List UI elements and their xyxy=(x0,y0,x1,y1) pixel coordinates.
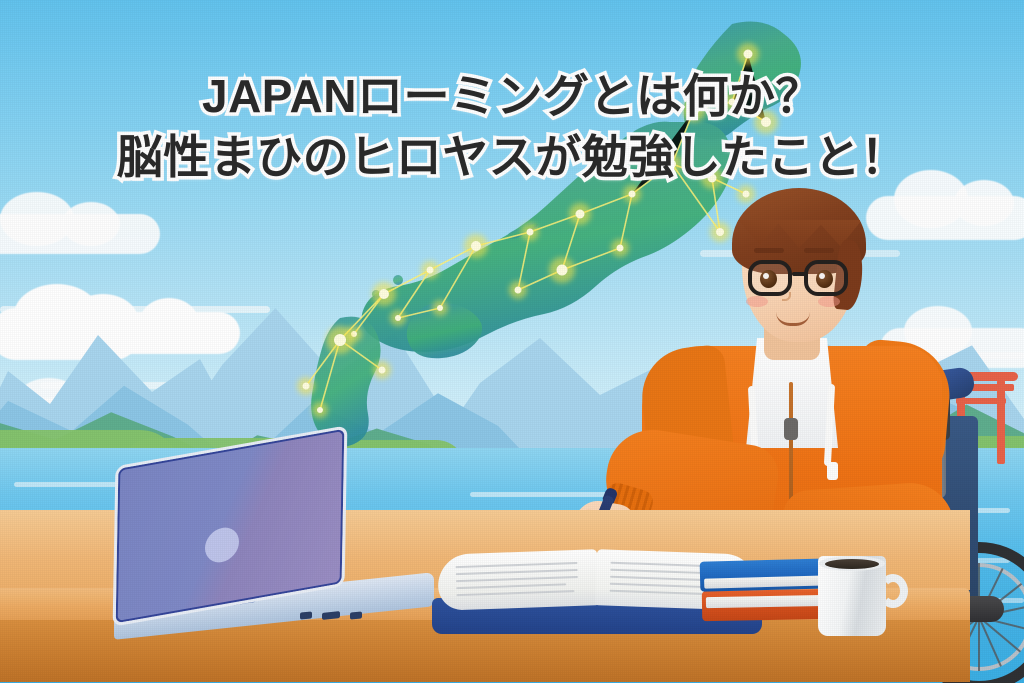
eye-left xyxy=(760,270,777,288)
book-blue xyxy=(700,558,835,591)
blush-right xyxy=(818,296,840,307)
head xyxy=(732,188,866,348)
coffee-mug xyxy=(818,556,910,640)
laptop-port xyxy=(300,611,312,619)
book-orange xyxy=(702,589,837,621)
laptop-port xyxy=(322,611,340,620)
eye-right xyxy=(816,270,833,288)
zipper-pull xyxy=(784,418,798,440)
laptop-port xyxy=(350,611,362,619)
illustration-canvas: JAPANローミングとは何か？ 脳性まひのヒロヤスが勉強したこと！ xyxy=(0,0,1024,683)
glasses-bridge xyxy=(792,272,808,276)
notebook-page-left xyxy=(437,549,599,611)
laptop-computer xyxy=(100,446,445,631)
blush-left xyxy=(746,296,768,307)
eyebrow-right xyxy=(804,248,834,253)
drawstring-aglet-right xyxy=(827,462,838,480)
eyebrow-left xyxy=(754,248,784,253)
mug-coffee-surface xyxy=(825,559,879,569)
